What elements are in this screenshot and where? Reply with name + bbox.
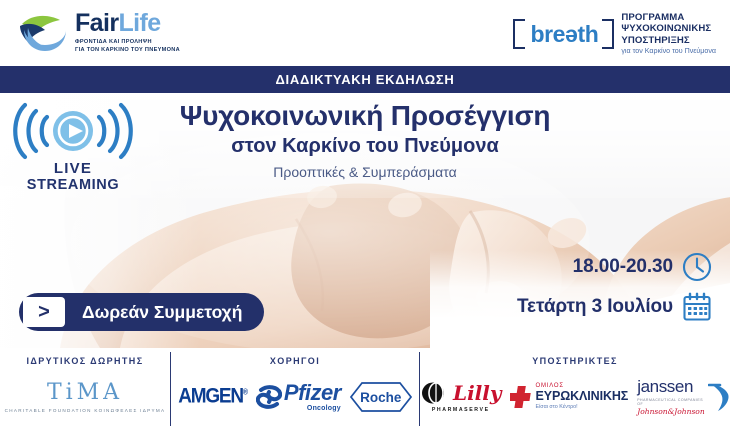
amgen-logo: AMGEN® bbox=[178, 385, 247, 410]
event-poster: Fair Life ΦΡΟΝΤΙΔΑ ΚΑΙ ΠΡΟΛΗΨΗ ΓΙΑ ΤΟΝ Κ… bbox=[0, 0, 730, 428]
breath-wordmark: breəth bbox=[518, 22, 610, 46]
page-subtitle-secondary: Προοπτικές & Συμπεράσματα bbox=[130, 163, 600, 183]
euroclinic-tagline: Είσαι στο Κέντρο! bbox=[535, 405, 628, 411]
janssen-text: janssen PHARMACEUTICAL COMPANIES OF John… bbox=[637, 378, 705, 416]
event-date: Τετάρτη 3 Ιουλίου bbox=[517, 296, 673, 318]
tima-logo: TiMA CHARITABLE FOUNDATION ΚΟΙΝΩΦΕΛΕΣ ΙΔ… bbox=[5, 382, 166, 413]
calendar-icon bbox=[682, 292, 712, 322]
footer-divider-2 bbox=[419, 352, 420, 426]
amgen-wordmark: AMGEN bbox=[178, 385, 243, 409]
breath-line3: ΥΠΟΣΤΗΡΙΞΗΣ bbox=[621, 35, 716, 46]
amgen-registered-mark: ® bbox=[243, 389, 247, 397]
founding-donor-logos: TiMA CHARITABLE FOUNDATION ΚΟΙΝΩΦΕΛΕΣ ΙΔ… bbox=[0, 366, 170, 428]
sponsors-footer: ΙΔΡΥΤΙΚΟΣ ΔΩΡΗΤΗΣ TiMA CHARITABLE FOUNDA… bbox=[0, 348, 730, 428]
fairlife-logo: Fair Life ΦΡΟΝΤΙΔΑ ΚΑΙ ΠΡΟΛΗΨΗ ΓΙΑ ΤΟΝ Κ… bbox=[18, 11, 180, 55]
pfizer-swirl-icon bbox=[256, 384, 282, 410]
free-participation-label: Δωρεάν Συμμετοχή bbox=[82, 302, 242, 323]
chevron-glyph: > bbox=[38, 302, 50, 322]
breath-logo: breəth ΠΡΟΓΡΑΜΜΑ ΨΥΧΟΚΟΙΝΩΝΙΚΗΣ ΥΠΟΣΤΗΡΙ… bbox=[513, 12, 716, 55]
chevron-right-icon: > bbox=[23, 297, 65, 327]
founding-donor-heading: ΙΔΡΥΤΙΚΟΣ ΔΩΡΗΤΗΣ bbox=[26, 356, 143, 366]
page-subtitle: στον Καρκίνο του Πνεύμονα bbox=[130, 133, 600, 160]
breath-bracket-mark: breəth bbox=[513, 19, 614, 49]
live-streaming-play-icon bbox=[8, 100, 138, 162]
janssen-logo: janssen PHARMACEUTICAL COMPANIES OF John… bbox=[637, 378, 730, 416]
event-time: 18.00-20.30 bbox=[573, 256, 673, 278]
pfizer-wordmark: Pfizer bbox=[284, 382, 341, 404]
clock-icon bbox=[682, 252, 712, 282]
sponsors-heading: ΧΟΡΗΓΟΙ bbox=[270, 356, 320, 366]
fairlife-word-life: Life bbox=[118, 11, 160, 36]
pfizer-text: Pfizer Oncology bbox=[284, 382, 341, 412]
janssen-company-line: PHARMACEUTICAL COMPANIES OF bbox=[637, 398, 705, 406]
free-participation-button[interactable]: > Δωρεάν Συμμετοχή bbox=[19, 293, 264, 331]
pfizer-oncology-label: Oncology bbox=[307, 405, 341, 412]
page-title: Ψυχοκοινωνική Προσέγγιση bbox=[130, 100, 600, 131]
footer-divider-1 bbox=[170, 352, 171, 426]
janssen-swoosh-icon bbox=[708, 382, 730, 412]
pharmaserve-lilly-logo: Lilly PHARMASERVE bbox=[420, 381, 501, 413]
fairlife-tagline-line1: ΦΡΟΝΤΙΔΑ ΚΑΙ ΠΡΟΛΗΨΗ bbox=[75, 38, 180, 46]
pfizer-logo: Pfizer Oncology bbox=[256, 382, 341, 412]
euroclinic-wordmark: ΕΥΡΩΚΛΙΝΙΚΗΣ bbox=[535, 390, 628, 404]
red-cross-icon bbox=[510, 385, 532, 409]
streaming-label: STREAMING bbox=[8, 177, 138, 194]
event-time-row: 18.00-20.30 bbox=[573, 252, 712, 282]
pharmaserve-lilly-row: Lilly bbox=[420, 381, 501, 405]
roche-logo: Roche bbox=[350, 382, 412, 412]
live-label: LIVE bbox=[8, 160, 138, 177]
janssen-wordmark: janssen bbox=[637, 378, 705, 395]
event-datetime: 18.00-20.30 Τετάρτη 3 Ιουλίου bbox=[517, 252, 712, 322]
euroclinic-text: ΟΜΙΛΟΣ ΕΥΡΩΚΛΙΝΙΚΗΣ Είσαι στο Κέντρο! bbox=[535, 383, 628, 411]
event-type-label: ΔΙΑΔΙΚΤΥΑΚΗ ΕΚΔΗΛΩΣΗ bbox=[276, 72, 455, 87]
breath-program-text: ΠΡΟΓΡΑΜΜΑ ΨΥΧΟΚΟΙΝΩΝΙΚΗΣ ΥΠΟΣΤΗΡΙΞΗΣ για… bbox=[621, 12, 716, 55]
founding-donor-column: ΙΔΡΥΤΙΚΟΣ ΔΩΡΗΤΗΣ TiMA CHARITABLE FOUNDA… bbox=[0, 348, 170, 428]
pharmaserve-label: PHARMASERVE bbox=[432, 407, 490, 413]
header-bar: Fair Life ΦΡΟΝΤΙΔΑ ΚΑΙ ΠΡΟΛΗΨΗ ΓΙΑ ΤΟΝ Κ… bbox=[0, 0, 730, 66]
johnson-johnson-wordmark: Johnson&Johnson bbox=[637, 407, 705, 416]
sponsor-logos: AMGEN® Pfizer Oncology bbox=[171, 366, 419, 428]
fairlife-swoosh-icon bbox=[18, 12, 70, 54]
euroclinic-logo: ΟΜΙΛΟΣ ΕΥΡΩΚΛΙΝΙΚΗΣ Είσαι στο Κέντρο! bbox=[510, 383, 628, 411]
event-date-row: Τετάρτη 3 Ιουλίου bbox=[517, 292, 712, 322]
sponsors-column: ΧΟΡΗΓΟΙ AMGEN® Pfizer Oncology bbox=[171, 348, 419, 428]
tima-wordmark: TiMA bbox=[47, 382, 123, 404]
supporters-column: ΥΠΟΣΤΗΡΙΚΤΕΣ Lilly PHARMASERVE bbox=[420, 348, 730, 428]
event-type-banner: ΔΙΑΔΙΚΤΥΑΚΗ ΕΚΔΗΛΩΣΗ bbox=[0, 66, 730, 93]
breath-line1: ΠΡΟΓΡΑΜΜΑ bbox=[621, 12, 716, 23]
roche-wordmark: Roche bbox=[350, 382, 412, 412]
supporter-logos: Lilly PHARMASERVE ΟΜΙΛΟΣ ΕΥΡΩΚΛΙΝΙΚΗΣ Εί… bbox=[420, 366, 730, 428]
fairlife-word-fair: Fair bbox=[75, 11, 118, 36]
lilly-wordmark: Lilly bbox=[453, 383, 501, 403]
fairlife-tagline-line2: ΓΙΑ ΤΟΝ ΚΑΡΚΙΝΟ ΤΟΥ ΠΝΕΥΜΟΝΑ bbox=[75, 46, 180, 54]
breath-line2: ΨΥΧΟΚΟΙΝΩΝΙΚΗΣ bbox=[621, 23, 716, 34]
live-streaming-badge: LIVE STREAMING bbox=[8, 100, 138, 195]
fairlife-wordmark: Fair Life ΦΡΟΝΤΙΔΑ ΚΑΙ ΠΡΟΛΗΨΗ ΓΙΑ ΤΟΝ Κ… bbox=[75, 11, 180, 55]
pharmaserve-oval-icon bbox=[420, 381, 450, 405]
title-block: Ψυχοκοινωνική Προσέγγιση στον Καρκίνο το… bbox=[130, 100, 600, 183]
supporters-heading: ΥΠΟΣΤΗΡΙΚΤΕΣ bbox=[532, 356, 618, 366]
tima-tagline: CHARITABLE FOUNDATION ΚΟΙΝΩΦΕΛΕΣ ΙΔΡΥΜΑ bbox=[5, 408, 166, 413]
breath-line4: για τον Καρκίνο του Πνεύμονα bbox=[621, 47, 716, 55]
